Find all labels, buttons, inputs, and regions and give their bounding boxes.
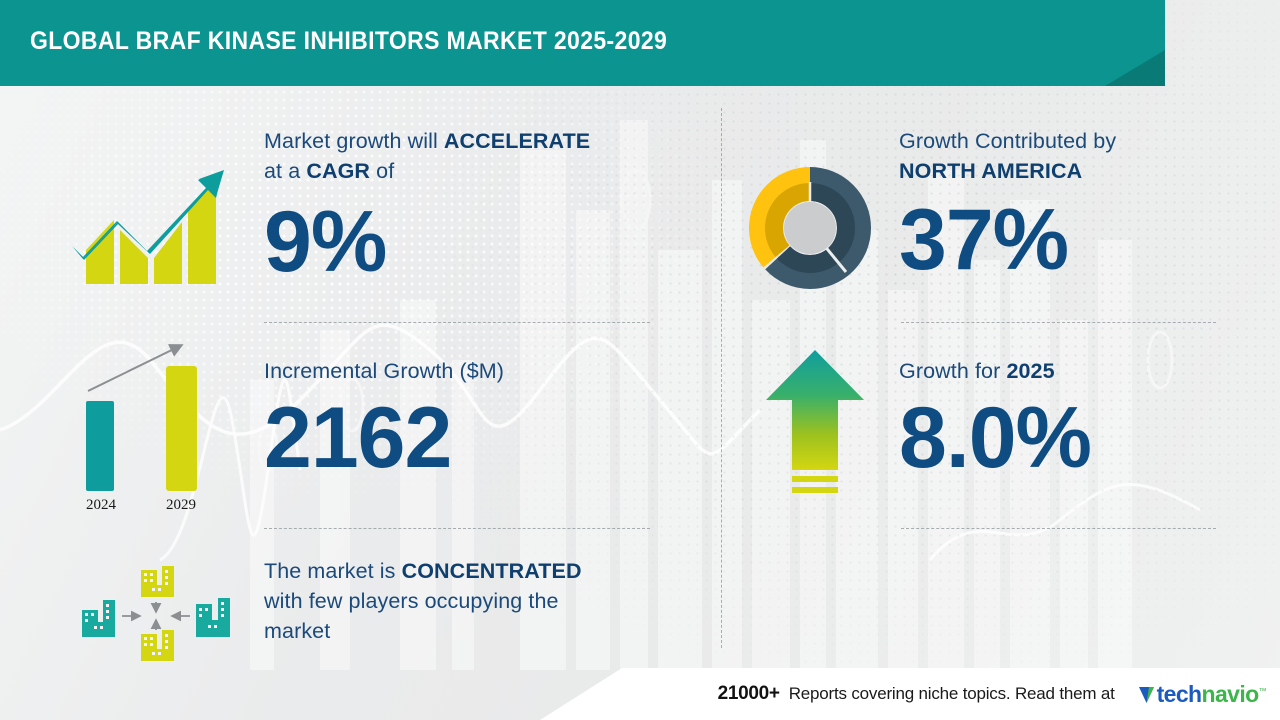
incremental-growth-value: 2162 bbox=[264, 396, 664, 480]
stat-block-year-growth: Growth for 2025 8.0% bbox=[899, 356, 1229, 480]
logo-trademark: ™ bbox=[1259, 686, 1266, 695]
concentration-label-bold: CONCENTRATED bbox=[402, 559, 582, 583]
technavio-wordmark: technavio™ bbox=[1157, 681, 1266, 708]
cagr-label-bold: ACCELERATE bbox=[444, 129, 590, 153]
region-label-bold: NORTH AMERICA bbox=[899, 159, 1082, 183]
stat-block-concentration: The market is CONCENTRATED with few play… bbox=[264, 556, 654, 646]
footer-text: Reports covering niche topics. Read them… bbox=[789, 684, 1115, 704]
left-divider-2 bbox=[264, 528, 650, 529]
bar-label-2029: 2029 bbox=[166, 497, 196, 514]
year-growth-value: 8.0% bbox=[899, 396, 1229, 480]
two-bar-comparison-icon bbox=[62, 328, 237, 523]
bar-label-2024: 2024 bbox=[86, 497, 116, 514]
year-growth-label: Growth for 2025 bbox=[899, 356, 1229, 386]
footer-bar: 21000+ Reports covering niche topics. Re… bbox=[540, 668, 1280, 720]
concentration-label-line2: with few players occupying the bbox=[264, 589, 559, 613]
right-divider-2 bbox=[901, 528, 1216, 529]
concentration-label: The market is CONCENTRATED with few play… bbox=[264, 556, 654, 646]
footer-report-count: 21000+ bbox=[718, 683, 780, 705]
right-divider-1 bbox=[901, 322, 1216, 323]
region-label: Growth Contributed by NORTH AMERICA bbox=[899, 126, 1229, 186]
left-divider-1 bbox=[264, 322, 650, 323]
concentration-label-prefix: The market is bbox=[264, 559, 402, 583]
page-title: GLOBAL BRAF KINASE INHIBITORS MARKET 202… bbox=[30, 27, 667, 56]
vertical-divider bbox=[721, 108, 722, 648]
cagr-label-line2-bold: CAGR bbox=[306, 159, 370, 183]
year-growth-label-prefix: Growth for bbox=[899, 359, 1006, 383]
cagr-label-prefix: Market growth will bbox=[264, 129, 444, 153]
region-label-line1: Growth Contributed by bbox=[899, 129, 1116, 153]
concentration-label-line3: market bbox=[264, 619, 330, 643]
cagr-label-line2-prefix: at a bbox=[264, 159, 306, 183]
cagr-label-line2-suffix: of bbox=[370, 159, 394, 183]
logo-tech-text: tech bbox=[1157, 681, 1202, 707]
stat-block-incremental-growth: Incremental Growth ($M) 2162 bbox=[264, 356, 664, 480]
technavio-triangle-icon bbox=[1138, 685, 1155, 704]
technavio-logo[interactable]: technavio™ bbox=[1138, 681, 1266, 708]
cagr-label: Market growth will ACCELERATE at a CAGR … bbox=[264, 126, 664, 186]
logo-navio-text: navio bbox=[1202, 681, 1259, 707]
year-growth-label-bold: 2025 bbox=[1006, 359, 1054, 383]
upward-gradient-arrow-icon bbox=[760, 344, 870, 506]
cagr-value: 9% bbox=[264, 200, 664, 284]
region-value: 37% bbox=[899, 198, 1229, 282]
converging-buildings-icon bbox=[78, 552, 243, 680]
donut-chart-icon bbox=[748, 166, 872, 290]
incremental-growth-label: Incremental Growth ($M) bbox=[264, 356, 664, 386]
stat-block-region: Growth Contributed by NORTH AMERICA 37% bbox=[899, 126, 1229, 282]
stat-block-cagr: Market growth will ACCELERATE at a CAGR … bbox=[264, 126, 664, 284]
growth-arrow-bars-icon bbox=[66, 152, 236, 292]
